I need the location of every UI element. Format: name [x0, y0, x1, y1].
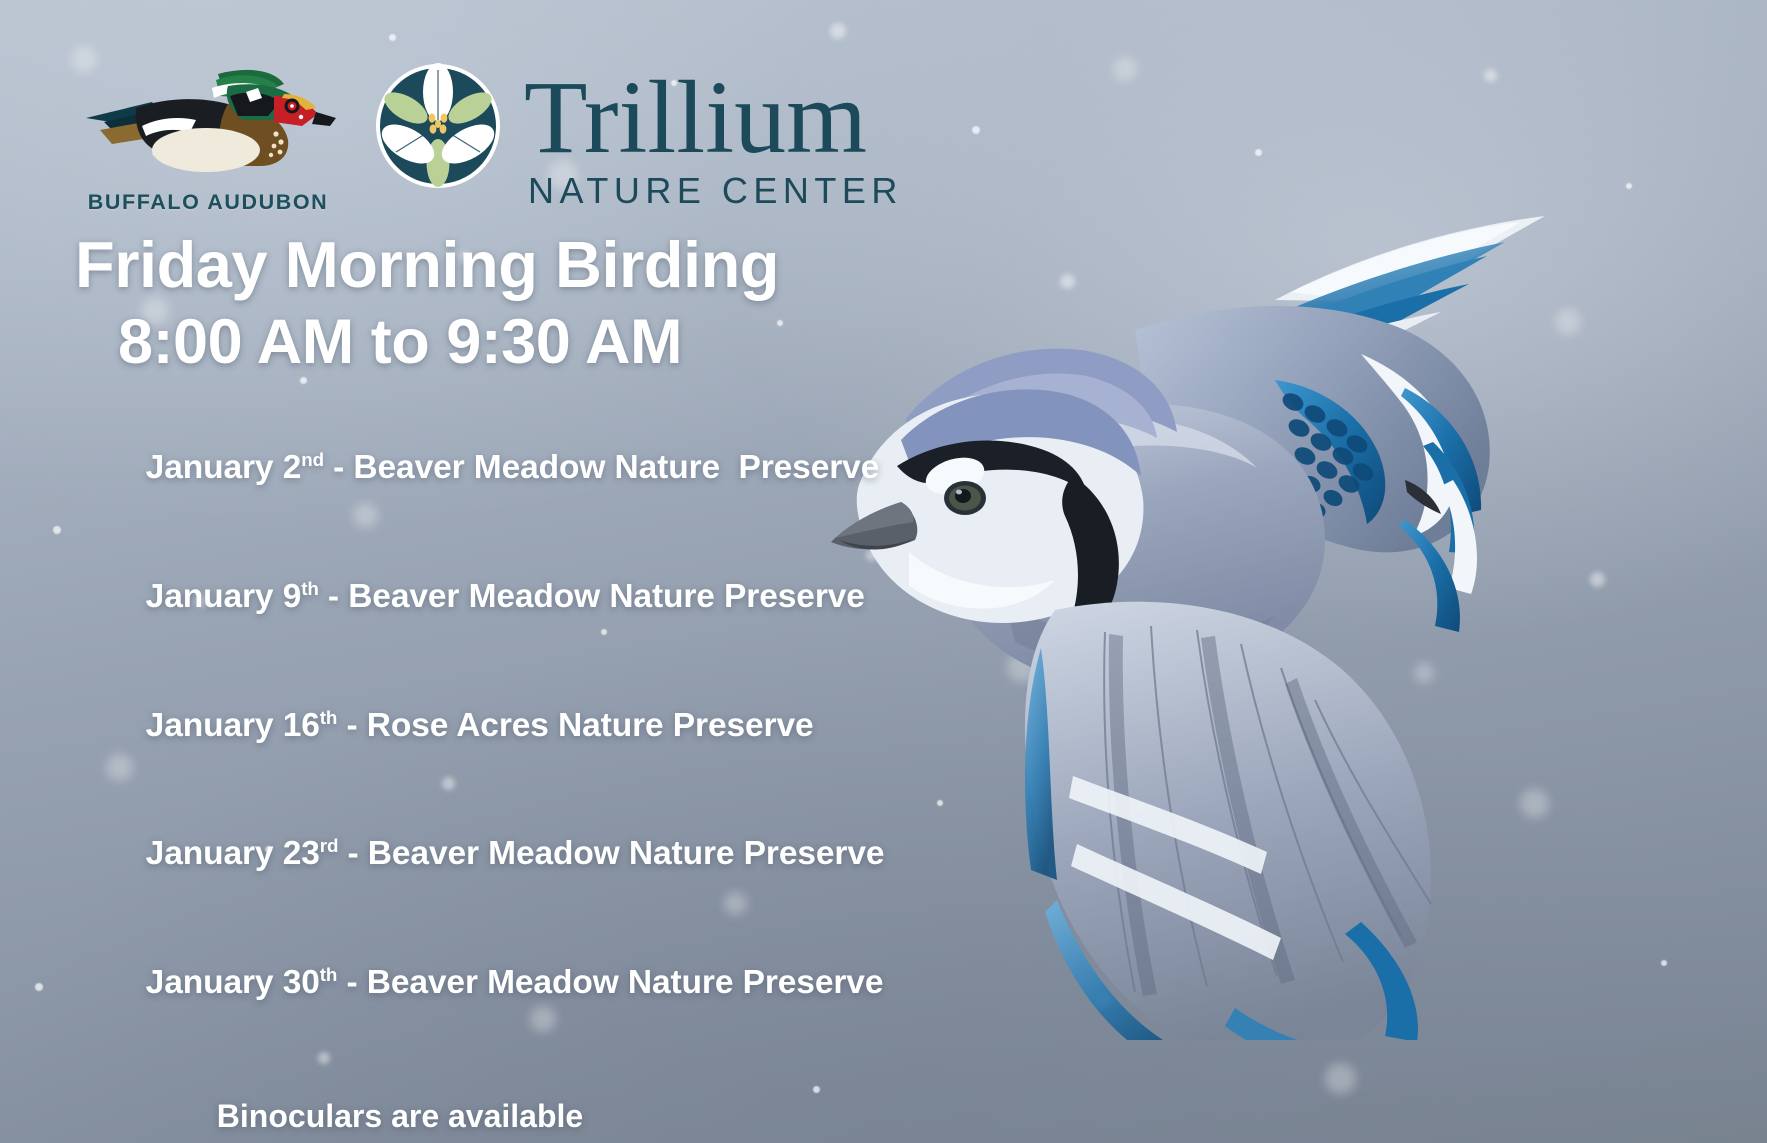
date-location: Beaver Meadow Nature Preserve — [348, 578, 865, 615]
equipment-note: Binoculars are available — [0, 1098, 900, 1135]
logo-row: BUFFALO AUDUBON — [78, 62, 903, 215]
date-ordinal: th — [320, 707, 338, 728]
date-month: January — [146, 835, 274, 872]
date-separator: - — [338, 835, 367, 872]
blue-jay-illustration — [805, 180, 1767, 1040]
date-day: 9 — [283, 578, 302, 615]
poster-copy: Friday Morning Birding 8:00 AM to 9:30 A… — [0, 232, 900, 1143]
date-separator: - — [324, 449, 353, 486]
date-location: Beaver Meadow Nature Preserve — [367, 964, 884, 1001]
date-month: January — [146, 449, 274, 486]
date-ordinal: rd — [320, 835, 339, 856]
date-day: 2 — [283, 449, 302, 486]
list-item: January 9th - Beaver Meadow Nature Prese… — [72, 533, 900, 662]
jay-lower-wing-fan — [1025, 602, 1431, 1040]
buffalo-audubon-logo: BUFFALO AUDUBON — [78, 62, 338, 215]
date-month: January — [146, 964, 274, 1001]
poster-canvas: BUFFALO AUDUBON — [0, 0, 1767, 1143]
date-location: Beaver Meadow Nature Preserve — [368, 835, 885, 872]
date-separator: - — [319, 578, 348, 615]
wood-duck-icon — [78, 62, 338, 182]
trillium-name: Trillium — [524, 70, 903, 166]
audubon-wordmark: BUFFALO AUDUBON — [78, 190, 338, 215]
event-time: 8:00 AM to 9:30 AM — [0, 310, 900, 374]
list-item: January 2nd - Beaver Meadow Nature Prese… — [72, 405, 900, 534]
date-day: 16 — [283, 707, 320, 744]
date-day: 30 — [283, 964, 320, 1001]
date-list: January 2nd - Beaver Meadow Nature Prese… — [0, 405, 900, 1048]
list-item: January 16th - Rose Acres Nature Preserv… — [72, 662, 900, 791]
date-month: January — [146, 707, 274, 744]
date-month: January — [146, 578, 274, 615]
blue-jay-image — [805, 180, 1767, 1040]
date-separator: - — [337, 707, 366, 744]
page-title: Friday Morning Birding — [0, 232, 900, 298]
date-ordinal: nd — [301, 449, 324, 470]
date-ordinal: th — [301, 578, 319, 599]
list-item: January 23rd - Beaver Meadow Nature Pres… — [72, 790, 900, 919]
date-location: Rose Acres Nature Preserve — [367, 707, 814, 744]
date-ordinal: th — [320, 964, 338, 985]
trillium-flower-icon — [374, 62, 502, 190]
list-item: January 30th - Beaver Meadow Nature Pres… — [72, 919, 900, 1048]
date-day: 23 — [283, 835, 320, 872]
date-location: Beaver Meadow Nature Preserve — [353, 449, 879, 486]
date-separator: - — [337, 964, 366, 1001]
